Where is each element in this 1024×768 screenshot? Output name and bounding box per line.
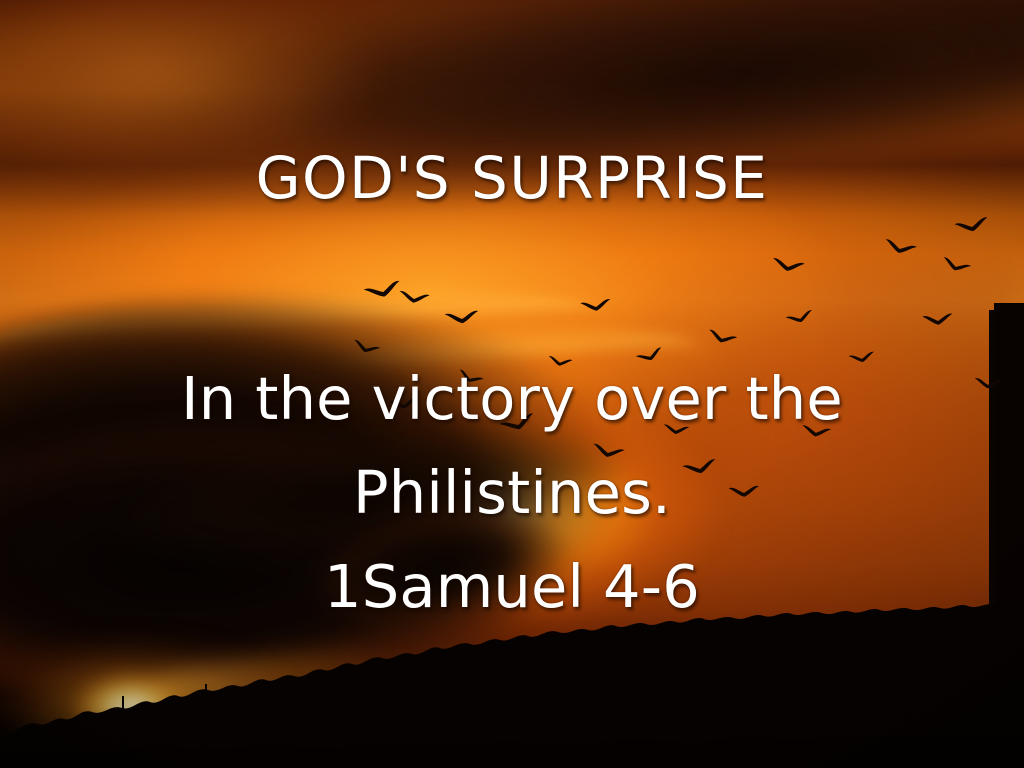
page-title: GOD'S SURPRISE [0,144,1024,212]
slide-text-stack: GOD'S SURPRISE In the victory over the P… [0,0,1024,768]
scripture-reference: 1Samuel 4-6 [0,540,1024,634]
body-line-2: Philistines. [0,446,1024,540]
presentation-slide: GOD'S SURPRISE In the victory over the P… [0,0,1024,768]
body-line-1: In the victory over the [0,352,1024,446]
slide-body-text: In the victory over the Philistines. 1Sa… [0,352,1024,634]
